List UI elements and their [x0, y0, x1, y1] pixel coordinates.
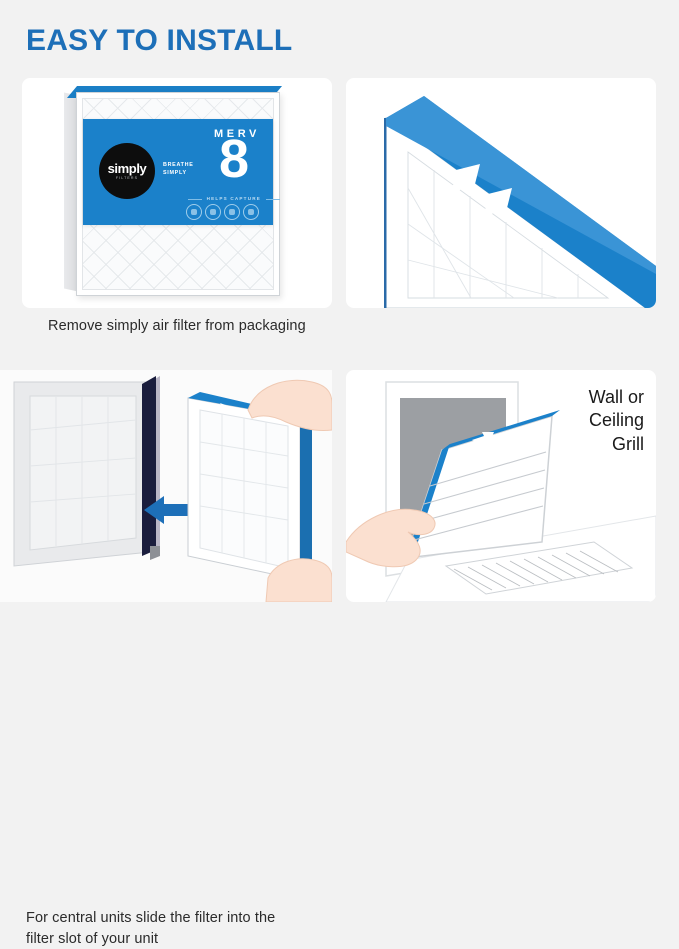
step-3-caption-line-2: filter slot of your unit	[26, 929, 326, 949]
step-2: Locate the arrow & point it in the direc…	[346, 78, 656, 308]
tagline-line-1: BREATHE	[163, 161, 194, 169]
logo-sub-text: FILTERS	[116, 176, 138, 180]
grill-label-line-2: Ceiling	[589, 409, 644, 432]
package-blue-label: simply FILTERS BREATHE SIMPLY MERV 8 HEL…	[83, 119, 273, 225]
install-steps-grid: simply FILTERS BREATHE SIMPLY MERV 8 HEL…	[0, 78, 679, 678]
pollen-icon	[186, 204, 202, 220]
filter-package-illustration: simply FILTERS BREATHE SIMPLY MERV 8 HEL…	[64, 86, 290, 300]
step-1-image-card: simply FILTERS BREATHE SIMPLY MERV 8 HEL…	[22, 78, 332, 308]
step-2-image-card	[346, 78, 656, 308]
step-3-caption: For central units slide the filter into …	[26, 908, 326, 949]
filter-arrow-illustration	[346, 78, 656, 308]
step-4-image-card: Wall or Ceiling Grill	[346, 370, 656, 602]
logo-main-text: simply	[108, 162, 147, 175]
package-tagline: BREATHE SIMPLY	[163, 161, 194, 178]
step-3-caption-line-1: For central units slide the filter into …	[26, 908, 326, 929]
unit-inner-panel	[30, 396, 136, 550]
unit-bottom-corner	[150, 546, 160, 560]
step-4: Wall or Ceiling Grill For return grills …	[346, 370, 656, 602]
pet-dander-icon	[224, 204, 240, 220]
dust-icon	[205, 204, 221, 220]
tagline-line-2: SIMPLY	[163, 169, 194, 177]
step-1: simply FILTERS BREATHE SIMPLY MERV 8 HEL…	[22, 78, 332, 308]
step-3-image-card	[0, 370, 332, 602]
step-1-caption: Remove simply air filter from packaging	[48, 316, 348, 337]
page-title: EASY TO INSTALL	[26, 26, 292, 56]
helps-capture-label: HELPS CAPTURE	[207, 196, 261, 201]
package-front-face: simply FILTERS BREATHE SIMPLY MERV 8 HEL…	[76, 92, 280, 296]
wall-or-ceiling-grill-label: Wall or Ceiling Grill	[589, 386, 644, 456]
simply-filters-logo: simply FILTERS	[99, 143, 155, 199]
central-unit-slot-illustration	[0, 370, 332, 602]
mold-icon	[243, 204, 259, 220]
step-3: For central units slide the filter into …	[0, 370, 332, 602]
filter-left-edge	[384, 118, 387, 308]
unit-filter-slot	[142, 376, 156, 556]
helps-capture-icons	[186, 204, 259, 220]
grill-label-line-3: Grill	[589, 433, 644, 456]
grill-label-line-1: Wall or	[589, 386, 644, 409]
merv-rating-number: 8	[219, 132, 249, 186]
hvac-unit	[14, 376, 160, 566]
